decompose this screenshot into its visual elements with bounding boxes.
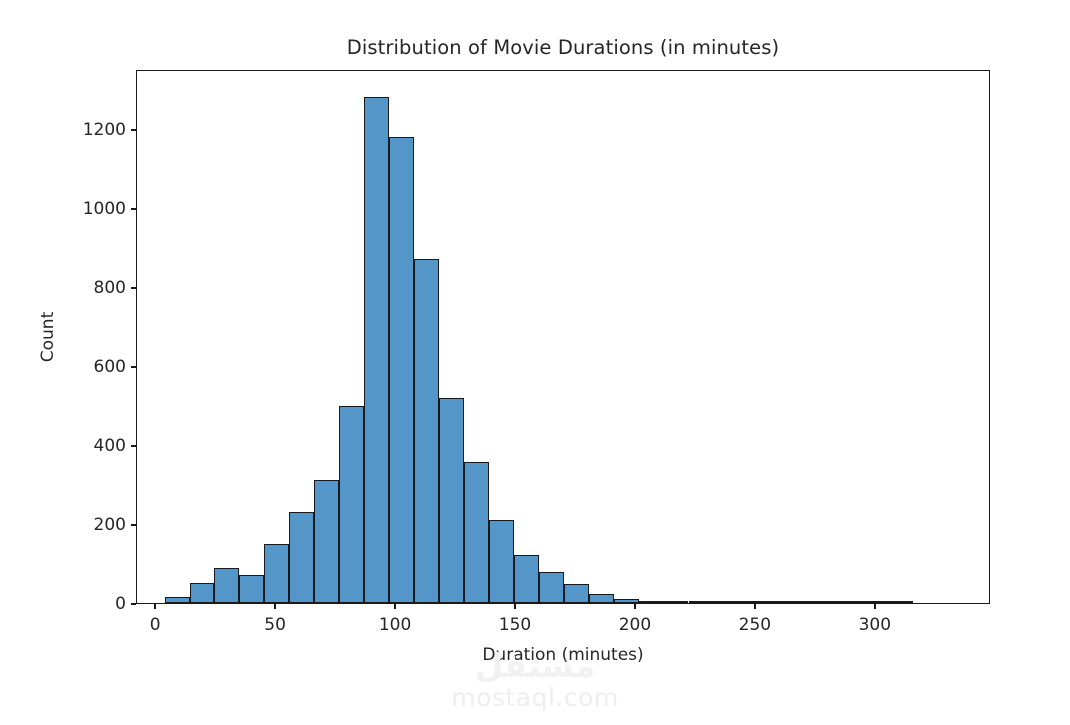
x-tick-label: 100 [379,615,411,635]
y-tick-label: 0 [115,594,126,614]
histogram-bar [464,462,489,603]
histogram-bar [713,601,738,603]
histogram-bar [813,601,838,603]
x-tick-label: 300 [859,615,891,635]
histogram-bars [137,71,989,603]
y-tick-label: 600 [94,357,126,377]
x-tick-mark [874,604,876,609]
histogram-bar [389,137,414,603]
x-tick-mark [154,604,156,609]
histogram-bar [788,601,813,603]
y-tick-mark [131,366,136,368]
x-tick-label: 250 [739,615,771,635]
histogram-bar [439,398,464,603]
histogram-bar [364,97,389,603]
histogram-bar [214,568,239,603]
x-tick-mark [274,604,276,609]
histogram-bar [289,512,314,603]
histogram-bar [264,544,289,603]
y-tick-label: 1000 [83,199,126,219]
y-tick-mark [131,208,136,210]
histogram-bar [514,555,539,603]
histogram-bar [190,583,215,603]
histogram-bar [888,601,913,603]
x-tick-label: 0 [150,615,161,635]
histogram-bar [838,601,863,603]
histogram-bar [639,601,664,603]
y-tick-label: 800 [94,278,126,298]
x-tick-mark [754,604,756,609]
x-tick-label: 200 [619,615,651,635]
histogram-bar [614,599,639,603]
histogram-bar [239,575,264,603]
histogram-bar [564,584,589,603]
y-axis-label: Count [38,312,58,363]
x-tick-mark [514,604,516,609]
y-tick-mark [131,445,136,447]
histogram-bar [664,601,689,603]
y-tick-label: 1200 [83,120,126,140]
x-axis-label: Duration (minutes) [482,645,643,665]
y-tick-label: 400 [94,436,126,456]
histogram-bar [165,597,190,603]
histogram-bar [489,520,514,603]
histogram-bar [738,601,763,603]
x-tick-mark [394,604,396,609]
histogram-bar [763,601,788,603]
y-tick-mark [131,287,136,289]
y-tick-mark [131,129,136,131]
x-tick-mark [634,604,636,609]
histogram-bar [589,594,614,603]
histogram-bar [539,572,564,603]
figure-canvas: Distribution of Movie Durations (in minu… [0,0,1070,725]
y-tick-mark [131,524,136,526]
histogram-bar [689,601,714,603]
chart-title: Distribution of Movie Durations (in minu… [136,36,990,59]
histogram-bar [339,406,364,603]
y-tick-mark [131,603,136,605]
histogram-bar [314,480,339,603]
histogram-bar [863,601,888,603]
x-tick-label: 150 [499,615,531,635]
plot-area [136,70,990,604]
x-tick-label: 50 [264,615,286,635]
histogram-bar [414,259,439,603]
y-tick-label: 200 [94,515,126,535]
watermark-latin-text: mostaql.com [451,684,618,712]
